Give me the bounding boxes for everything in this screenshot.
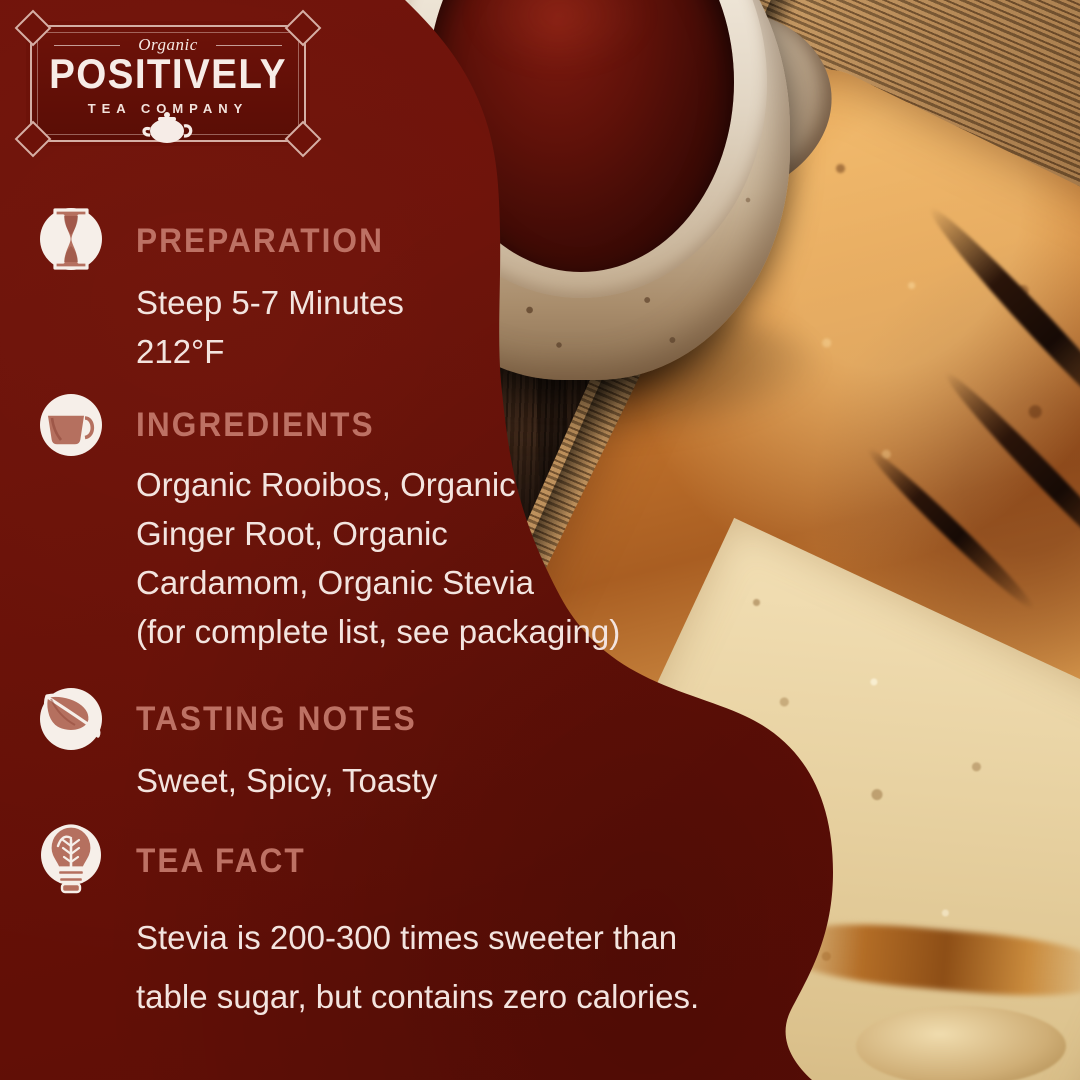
brand-logo[interactable]: Organic POSITIVELY TEA COMPANY (30, 25, 306, 142)
section-body-ingredients: Organic Rooibos, Organic Ginger Root, Or… (136, 460, 620, 656)
section-heading-tea-fact: TEA FACT (136, 842, 306, 881)
section-heading-preparation: PREPARATION (136, 222, 384, 261)
section-body-tea-fact: Stevia is 200-300 times sweeter than tab… (136, 908, 699, 1026)
tea-product-infographic: Organic POSITIVELY TEA COMPANY PREPARATI… (0, 0, 1080, 1080)
lightbulb-leaf-icon (38, 824, 104, 890)
logo-brand-name: POSITIVELY (43, 51, 293, 97)
teapot-icon (140, 110, 196, 149)
section-body-preparation: Steep 5-7 Minutes 212°F (136, 278, 404, 376)
section-heading-tasting-notes: TASTING NOTES (136, 700, 417, 739)
tea-leaf-icon (38, 686, 104, 752)
hourglass-icon (38, 206, 104, 272)
section-body-tasting-notes: Sweet, Spicy, Toasty (136, 756, 437, 805)
teacup-icon (38, 392, 104, 458)
section-heading-ingredients: INGREDIENTS (136, 406, 375, 445)
banana-slice-round (856, 1006, 1066, 1080)
